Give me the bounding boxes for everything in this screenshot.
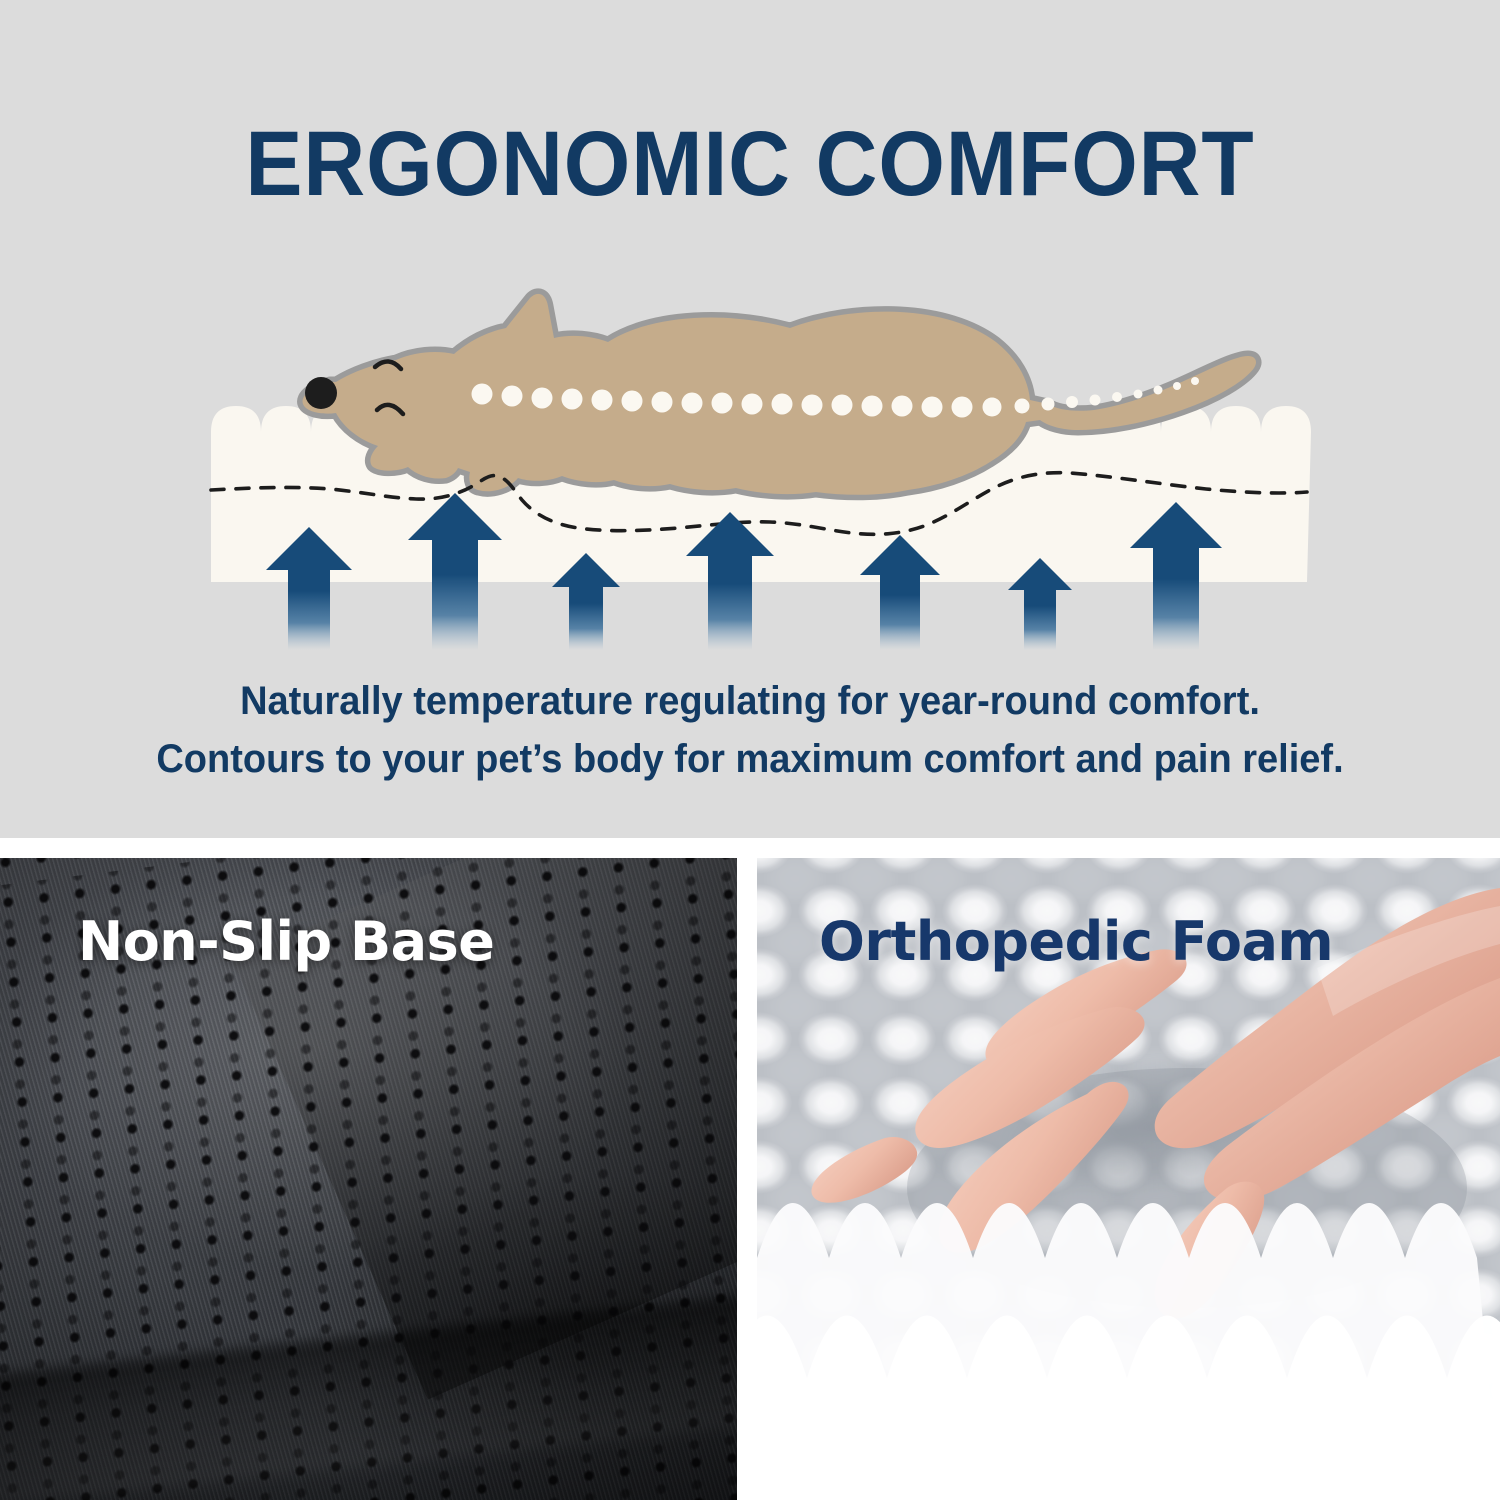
page-title: ERGONOMIC COMFORT: [53, 118, 1448, 210]
orthopedic-foam-label: Orthopedic Foam: [819, 910, 1333, 973]
feature-caption: Naturally temperature regulating for yea…: [38, 672, 1463, 788]
dog-on-mattress-illustration: [0, 250, 1500, 650]
orthopedic-foam-panel: Orthopedic Foam: [757, 858, 1500, 1500]
ergonomic-comfort-panel: ERGONOMIC COMFORT: [0, 0, 1500, 838]
floor-right: [1307, 582, 1500, 650]
product-infographic: ERGONOMIC COMFORT: [0, 0, 1500, 1500]
caption-line-2: Contours to your pet’s body for maximum …: [38, 730, 1463, 788]
dog-nose-icon: [305, 377, 337, 409]
floor-left: [0, 582, 211, 650]
non-slip-base-panel: Non-Slip Base: [0, 858, 737, 1500]
panel-divider-vertical: [737, 838, 757, 1500]
caption-line-1: Naturally temperature regulating for yea…: [38, 672, 1463, 730]
non-slip-base-label: Non-Slip Base: [78, 910, 494, 973]
